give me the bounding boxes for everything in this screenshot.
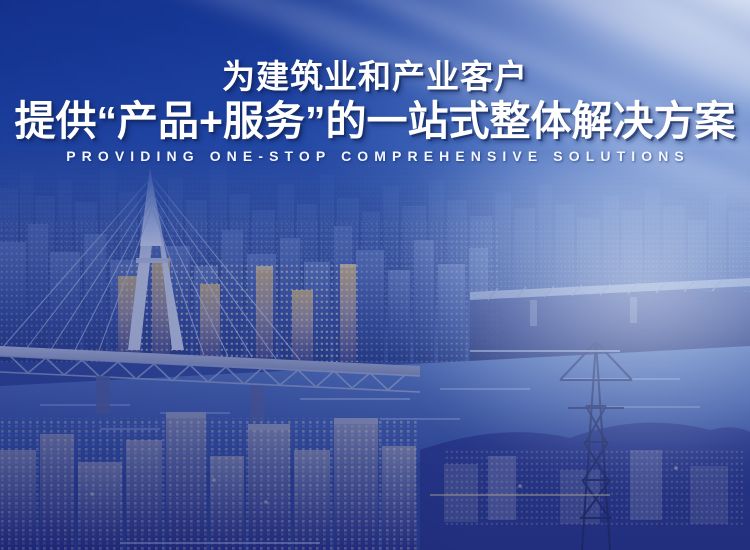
- cityscape-svg: [0, 150, 750, 550]
- residential-towers: [0, 412, 420, 550]
- hero-banner: 为建筑业和产业客户 提供“产品+服务”的一站式整体解决方案 PROVIDING …: [0, 0, 750, 550]
- skyline-warm: [118, 258, 358, 362]
- cityscape: [0, 150, 750, 550]
